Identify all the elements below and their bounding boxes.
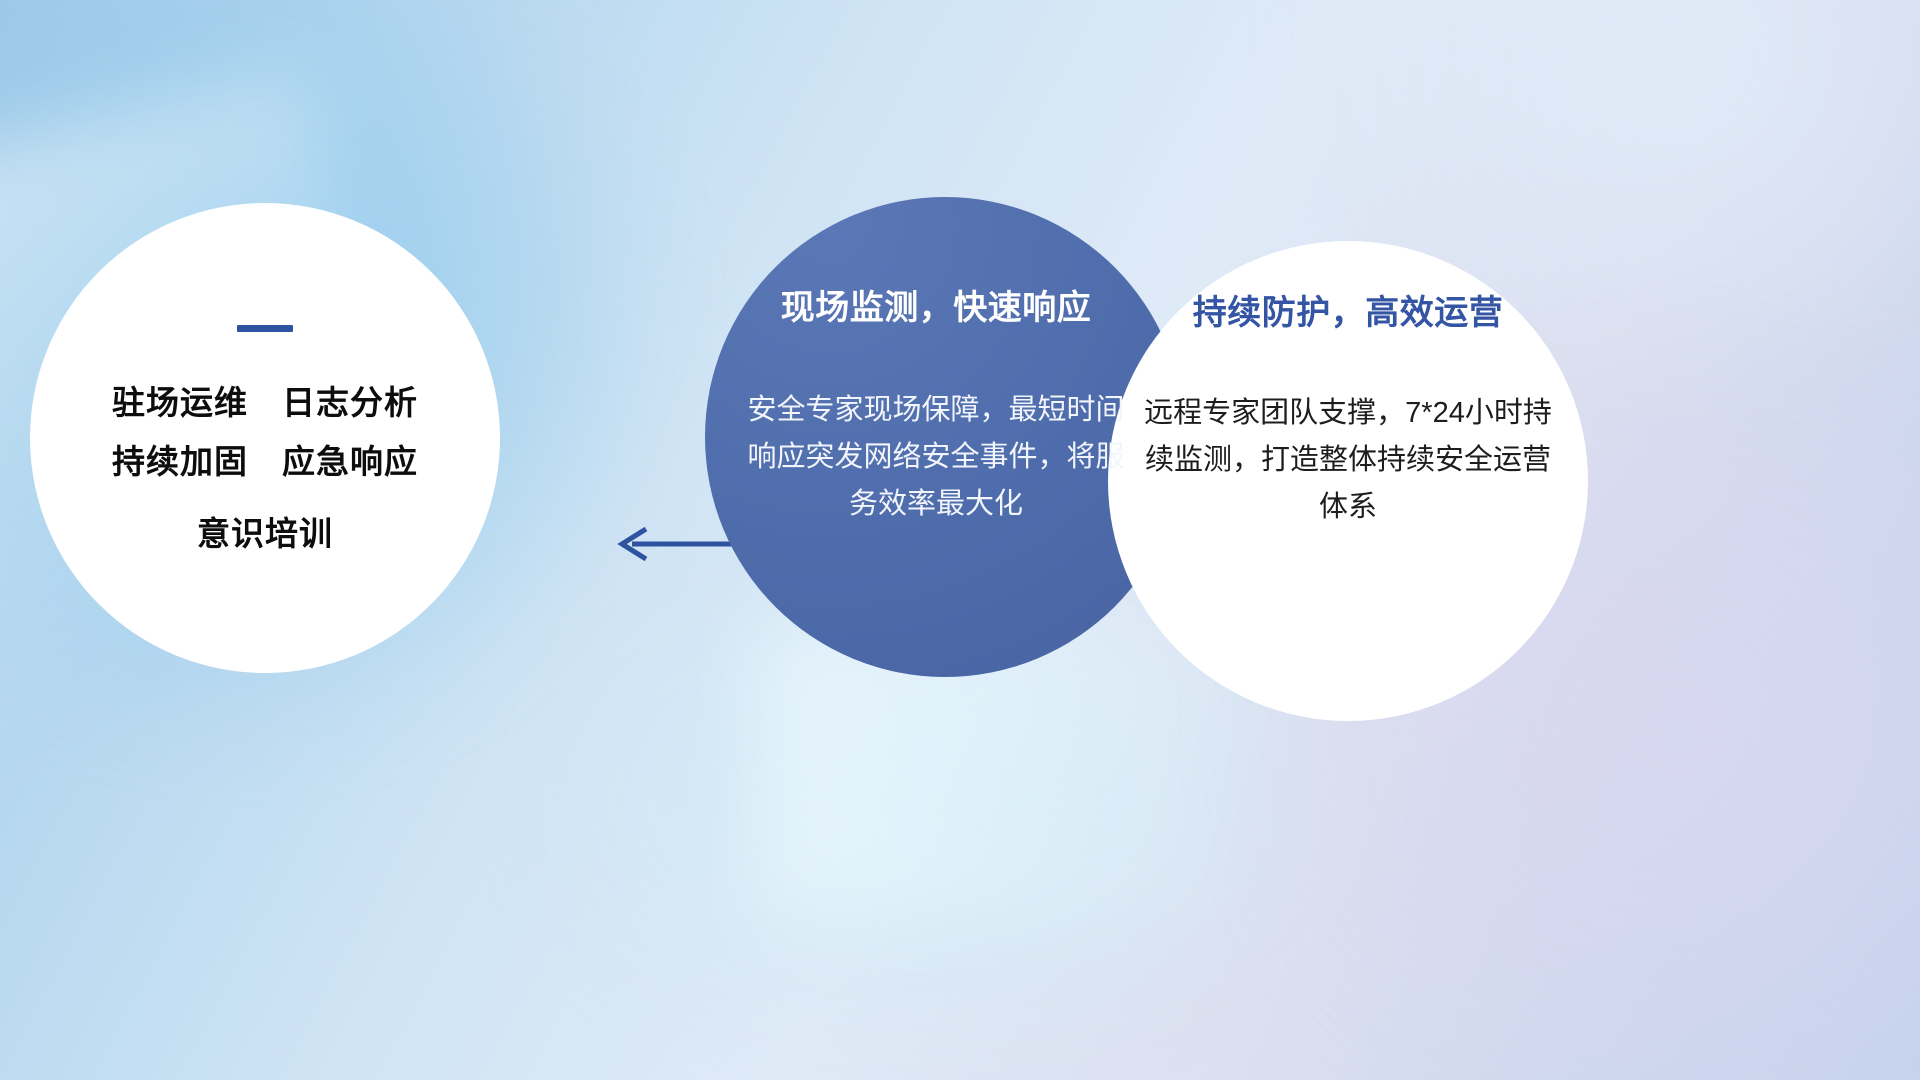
continuous-protection-content: 持续防护，高效运营 远程专家团队支撑，7*24小时持续监测，打造整体持续安全运营…	[1136, 285, 1560, 531]
capability-list: 驻场运维 日志分析 持续加固 应急响应 意识培训	[112, 374, 418, 564]
onsite-monitoring-body: 安全专家现场保障，最短时间响应突发网络安全事件，将服务效率最大化	[736, 387, 1136, 528]
continuous-protection-title: 持续防护，高效运营	[1136, 285, 1560, 334]
accent-dash	[237, 325, 293, 332]
list-item: 驻场运维 日志分析	[112, 374, 418, 433]
list-item: 持续加固 应急响应	[112, 433, 418, 492]
onsite-monitoring-content: 现场监测，快速响应 安全专家现场保障，最短时间响应突发网络安全事件，将服务效率最…	[736, 280, 1136, 528]
list-item: 意识培训	[112, 505, 418, 564]
slide-canvas: 驻场运维 日志分析 持续加固 应急响应 意识培训 现场监测，快速响应 安全专家现…	[0, 0, 1920, 1080]
onsite-monitoring-title: 现场监测，快速响应	[736, 280, 1136, 329]
continuous-protection-body: 远程专家团队支撑，7*24小时持续监测，打造整体持续安全运营体系	[1136, 390, 1560, 531]
service-capability-circle[interactable]: 驻场运维 日志分析 持续加固 应急响应 意识培训	[30, 203, 500, 673]
